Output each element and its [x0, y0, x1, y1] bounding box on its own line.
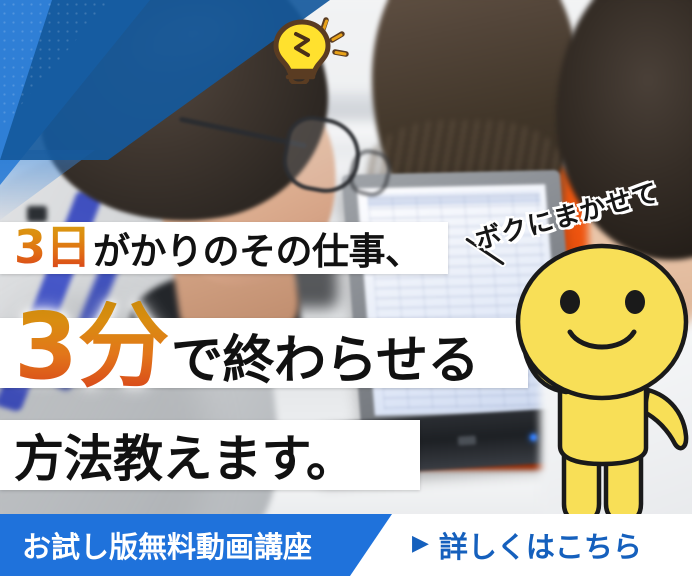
cta-details-link[interactable]: ▶ 詳しくはこちら	[412, 514, 642, 576]
cta-left-label[interactable]: お試し版無料動画講座	[22, 514, 312, 576]
headline-line-3: 方法教えます。	[0, 420, 420, 490]
cta-right-label[interactable]: 詳しくはこちら	[439, 524, 642, 566]
headline-line-1: 3日 がかりのその仕事、	[0, 222, 448, 274]
headline-line-3-text: 方法教えます。	[14, 419, 356, 491]
promo-banner: 3日 がかりのその仕事、 3分 で終わらせる 方法教えます。 ボクにまかせて	[0, 0, 692, 576]
cta-bar[interactable]: お試し版無料動画講座 ▶ 詳しくはこちら	[0, 514, 692, 576]
headline-line-2-rest: で終わらせる	[171, 318, 479, 393]
headline-line-1-rest: がかりのその仕事、	[93, 221, 422, 275]
triangle-right-icon: ▶	[412, 533, 429, 555]
yellow-mascot-character	[498, 240, 692, 530]
headline-accent-3minutes: 3分	[14, 301, 169, 393]
headline-accent-3days: 3日	[14, 224, 91, 270]
lightbulb-icon	[258, 8, 354, 84]
headline-line-2: 3分 で終わらせる	[0, 318, 528, 388]
